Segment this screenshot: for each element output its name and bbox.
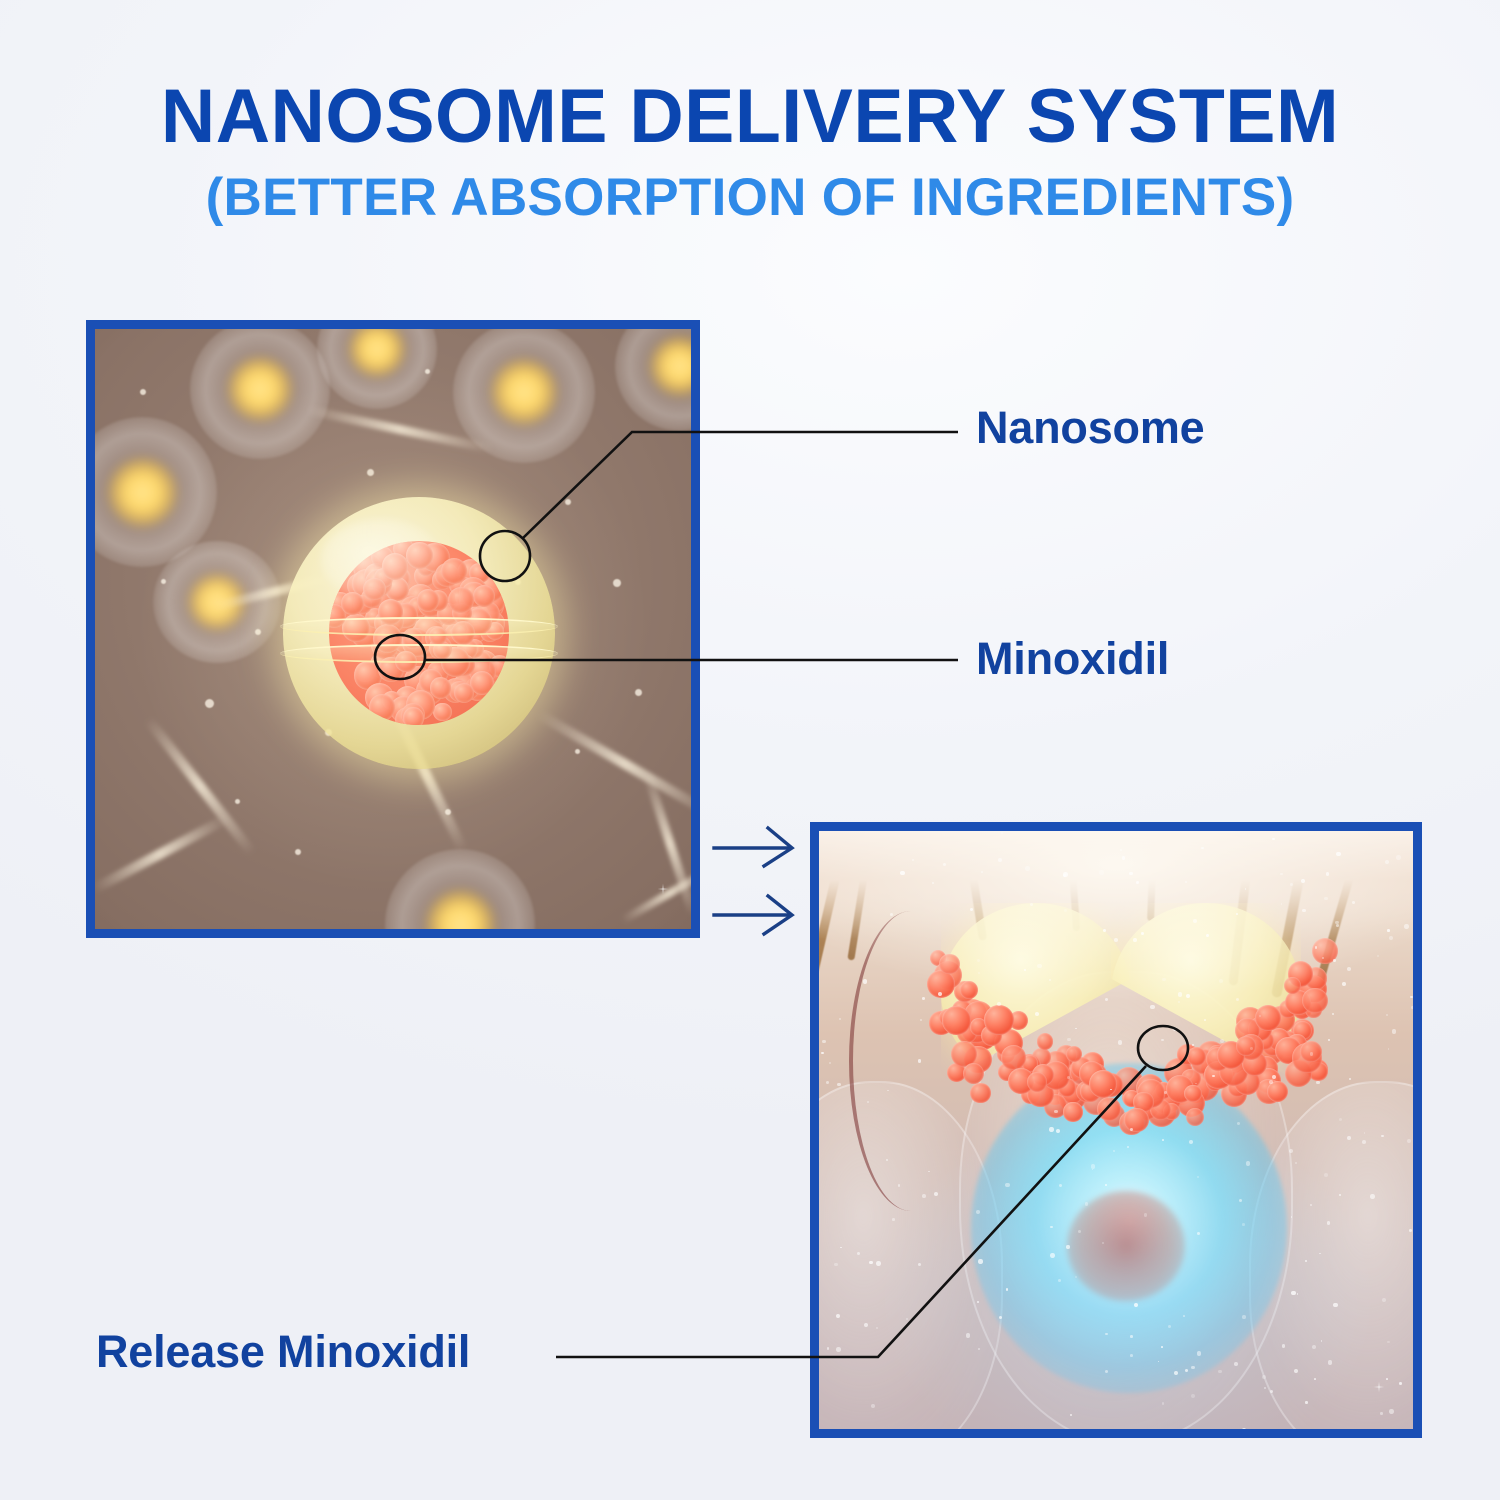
sparkle-dust (1050, 1253, 1055, 1258)
sparkle-dust (1122, 856, 1125, 859)
sparkle-dust (1136, 881, 1139, 884)
sparkle-dust (1037, 964, 1041, 968)
sparkle-dust (1066, 1245, 1069, 1248)
sparkle-dust (1005, 1183, 1009, 1187)
sparkle-dust (1392, 1029, 1396, 1033)
sparkle-dust (1411, 1006, 1413, 1009)
sparkle-dust (1206, 934, 1209, 937)
sparkle-dust (1305, 1401, 1307, 1403)
sparkle-dust (1342, 982, 1346, 986)
sparkle-dust (1197, 1232, 1200, 1235)
sparkle-dust (1150, 1005, 1154, 1009)
sparkle-dust (1220, 1039, 1224, 1043)
sparkle-dust (1272, 838, 1274, 840)
sparkle-dust (1118, 1040, 1123, 1045)
sparkle-dust (1399, 1382, 1402, 1385)
sparkle-dust (836, 1347, 841, 1352)
sparkle-dust (978, 1348, 980, 1350)
sparkle-dust (1324, 1173, 1328, 1177)
sparkle-dust (1218, 1370, 1221, 1373)
sparkle-dust (1389, 936, 1393, 940)
sparkle-dust (1315, 946, 1317, 948)
sparkle-dust (1339, 1118, 1342, 1121)
sparkle-dust (920, 1019, 922, 1021)
sparkle-dust (1070, 1414, 1072, 1416)
sparkle-dust (827, 1347, 829, 1349)
sparkle-dust (1246, 1161, 1250, 1165)
sparkle-dust (1025, 866, 1030, 871)
sparkle-dust (887, 1090, 889, 1092)
panel-nanosome (86, 320, 700, 938)
sparkle-dust (822, 1040, 826, 1044)
sparkle-dust (1130, 1354, 1133, 1357)
sparkle-dust (1162, 1139, 1164, 1141)
callout-label-release-minoxidil: Release Minoxidil (96, 1326, 470, 1378)
sparkle-dust (1362, 1140, 1366, 1144)
callout-label-nanosome: Nanosome (976, 402, 1204, 454)
sparkle-dust (1144, 1213, 1148, 1217)
sparkle-dust (1404, 924, 1409, 929)
infographic-canvas: NANOSOME DELIVERY SYSTEM (BETTER ABSORPT… (0, 0, 1500, 1500)
sparkle-dust (1099, 870, 1103, 874)
sparkle-dust (1239, 1199, 1242, 1202)
sparkle-dust (922, 997, 925, 1000)
sparkle-dust (1333, 959, 1336, 962)
sparkle-dust (1352, 901, 1355, 904)
sparkle-dust (1049, 1127, 1053, 1131)
sparkle-dust (1105, 1184, 1107, 1186)
sparkle-dust (1370, 1194, 1375, 1199)
sparkle-dust (1336, 852, 1341, 857)
sparkle-dust (1185, 881, 1187, 883)
sparkle-dust (1234, 1362, 1238, 1366)
sparkle-dust (1262, 1375, 1266, 1379)
flow-arrows (700, 810, 830, 960)
sparkle-dust (1049, 979, 1051, 981)
sparkle-dust (1269, 1080, 1273, 1084)
sparkle-dust (1178, 992, 1182, 996)
sparkle-dust (1219, 979, 1223, 983)
panel-vignette (95, 329, 691, 929)
sparkle-dust (922, 1194, 926, 1198)
sparkle-dust (1197, 1351, 1201, 1355)
sparkle-dust (1377, 955, 1379, 957)
sparkle-dust (1347, 1136, 1351, 1140)
sparkle-dust (1336, 924, 1339, 927)
sparkle-dust (1197, 1176, 1199, 1178)
sparkle-dust (1161, 1346, 1163, 1348)
sparkle-dust (1091, 1164, 1095, 1168)
sparkle-dust (1178, 1001, 1180, 1003)
nanosome-artwork (95, 329, 691, 929)
sparkle-dust (1310, 1204, 1312, 1206)
sparkle-dust (1105, 1333, 1107, 1335)
sparkle-dust (1250, 1047, 1253, 1050)
sparkle-dust (871, 1404, 875, 1408)
sparkle-icon (1371, 1379, 1387, 1395)
sparkle-dust (1236, 998, 1239, 1001)
sparkle-dust (886, 1159, 888, 1161)
sparkle-dust (1133, 938, 1137, 942)
sparkle-dust (1242, 1428, 1246, 1429)
sparkle-dust (1396, 855, 1401, 860)
sparkle-dust (1193, 919, 1197, 923)
sparkle-dust (1328, 1360, 1332, 1364)
sparkle-dust (1054, 1110, 1057, 1113)
scalp-lighting (819, 831, 1413, 1429)
sparkle-dust (1162, 1402, 1165, 1405)
sparkle-dust (1063, 872, 1068, 877)
sparkle-dust (1173, 1027, 1177, 1031)
sub-title: (BETTER ABSORPTION OF INGREDIENTS) (0, 170, 1500, 226)
sparkle-dust (1201, 847, 1203, 849)
sparkle-dust (1204, 1019, 1206, 1021)
sparkle-dust (1282, 1344, 1285, 1347)
sparkle-dust (1305, 1260, 1307, 1262)
sparkle-dust (1130, 1128, 1133, 1131)
sparkle-dust (1389, 1409, 1394, 1414)
sparkle-dust (977, 959, 980, 962)
sparkle-dust (1321, 1340, 1323, 1342)
sparkle-dust (1067, 1076, 1070, 1079)
sparkle-dust (1110, 1089, 1112, 1091)
panel-scalp (810, 822, 1422, 1438)
sparkle-dust (1380, 1412, 1382, 1414)
title-block: NANOSOME DELIVERY SYSTEM (BETTER ABSORPT… (0, 78, 1500, 225)
sparkle-dust (1130, 1335, 1133, 1338)
sparkle-dust (1386, 1378, 1388, 1380)
sparkle-dust (1236, 913, 1238, 915)
sparkle-dust (1291, 1291, 1295, 1295)
sparkle-dust (900, 871, 904, 875)
sparkle-dust (892, 1218, 895, 1221)
sparkle-dust (1085, 1202, 1089, 1206)
sparkle-dust (826, 1081, 829, 1084)
sparkle-dust (1242, 1223, 1245, 1226)
sparkle-icon (655, 881, 671, 897)
sparkle-dust (1242, 1315, 1246, 1319)
sparkle-dust (1259, 1015, 1261, 1017)
sparkle-dust (867, 1101, 869, 1103)
sparkle-dust (1349, 1078, 1351, 1080)
callout-label-minoxidil: Minoxidil (976, 633, 1169, 685)
sparkle-dust (1381, 1135, 1383, 1137)
sparkle-dust (966, 1333, 970, 1337)
sparkle-dust (1162, 978, 1166, 982)
sparkle-dust (1006, 1288, 1008, 1290)
sparkle-dust (981, 871, 983, 873)
sparkle-dust (1387, 929, 1390, 932)
sparkle-dust (970, 908, 973, 911)
sparkle-dust (869, 1261, 872, 1264)
sparkle-dust (998, 858, 1002, 862)
sparkle-dust (1114, 938, 1118, 942)
sparkle-dust (912, 859, 914, 861)
sparkle-dust (1113, 1150, 1115, 1152)
main-title: NANOSOME DELIVERY SYSTEM (8, 78, 1493, 156)
sparkle-dust (1183, 1315, 1185, 1317)
sparkle-dust (1134, 1303, 1138, 1307)
sparkle-dust (978, 1259, 982, 1263)
sparkle-dust (1164, 1091, 1167, 1094)
scalp-artwork (819, 831, 1413, 1429)
sparkle-dust (1326, 872, 1330, 876)
sparkle-dust (1327, 1221, 1331, 1225)
